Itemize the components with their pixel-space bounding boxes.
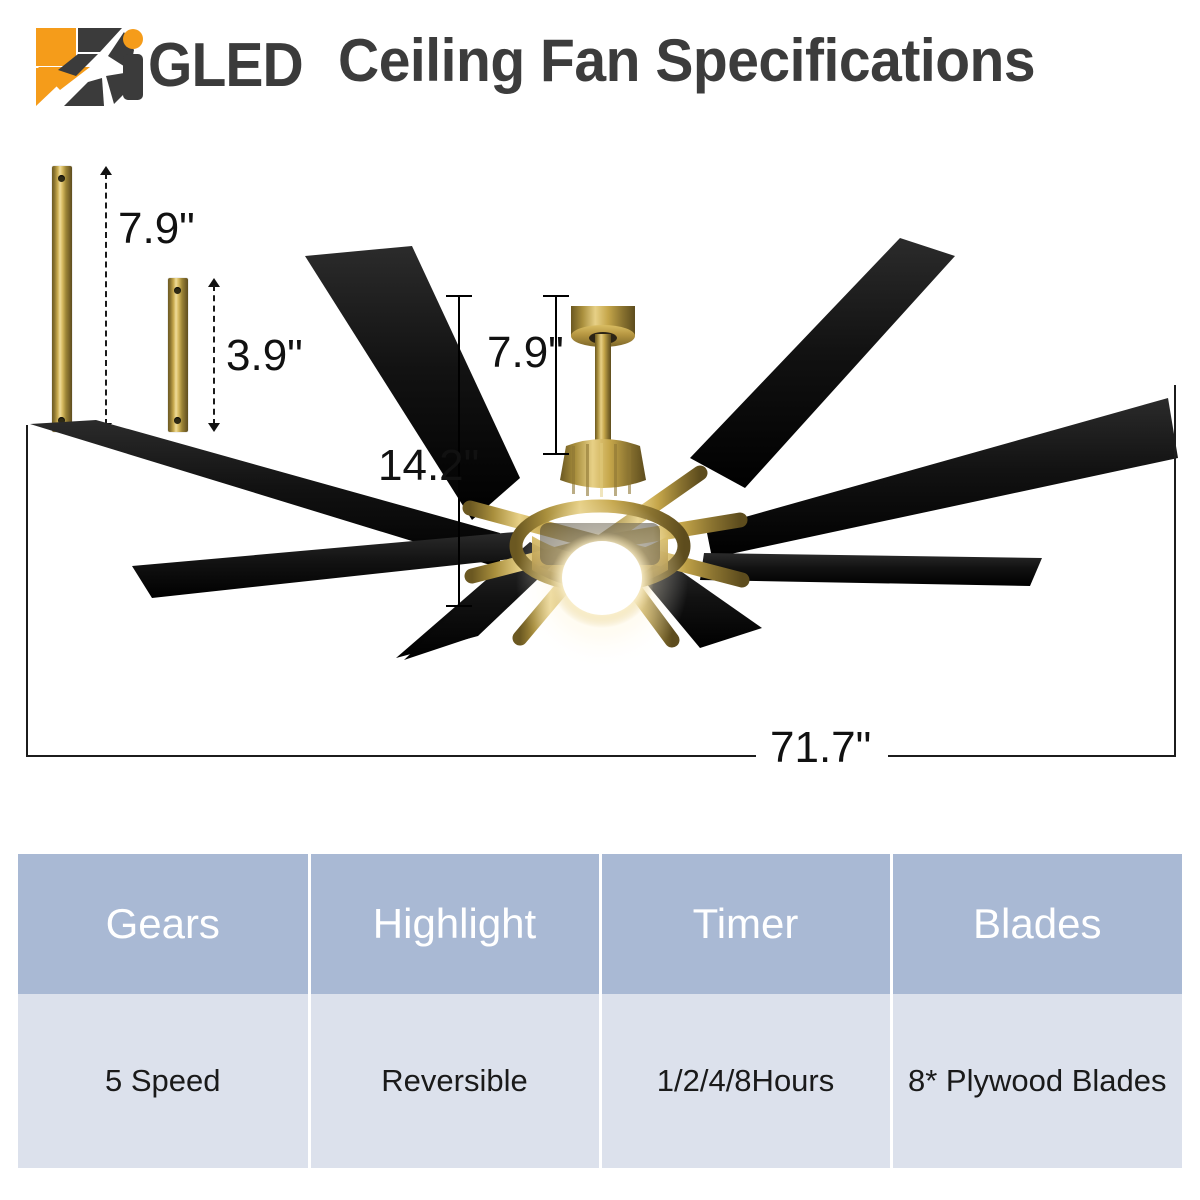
table-cell-timer: 1/2/4/8Hours <box>600 994 891 1168</box>
table-row: 5 Speed Reversible 1/2/4/8Hours 8* Plywo… <box>18 994 1182 1168</box>
dimension-label-canopy-drop: 7.9" <box>487 328 564 378</box>
dimension-label-total-height: 14.2" <box>378 441 479 491</box>
table-cell-gears: 5 Speed <box>18 994 309 1168</box>
table-cell-blades: 8* Plywood Blades <box>891 994 1182 1168</box>
table-header-row: Gears Highlight Timer Blades <box>18 854 1182 994</box>
ceiling-fan-8-blade-icon <box>0 128 1200 828</box>
table-header-timer: Timer <box>600 854 891 994</box>
span-bracket-left <box>26 425 28 757</box>
brand-wordmark: GLED <box>148 30 303 101</box>
logo-letter-i-icon <box>116 28 150 104</box>
table-header-gears: Gears <box>18 854 309 994</box>
table-header-blades: Blades <box>891 854 1182 994</box>
table-cell-highlight: Reversible <box>309 994 600 1168</box>
page-title: Ceiling Fan Specifications <box>338 26 1035 95</box>
table-header-highlight: Highlight <box>309 854 600 994</box>
span-bracket-right <box>1174 385 1176 757</box>
product-diagram: 7.9" 3.9" <box>0 128 1200 828</box>
dimension-label-blade-span: 71.7" <box>770 723 871 773</box>
span-line-right <box>888 755 1176 757</box>
page-header: GLED Ceiling Fan Specifications <box>0 0 1200 128</box>
span-line-left <box>26 755 756 757</box>
specifications-table: Gears Highlight Timer Blades 5 Speed Rev… <box>18 854 1182 1168</box>
